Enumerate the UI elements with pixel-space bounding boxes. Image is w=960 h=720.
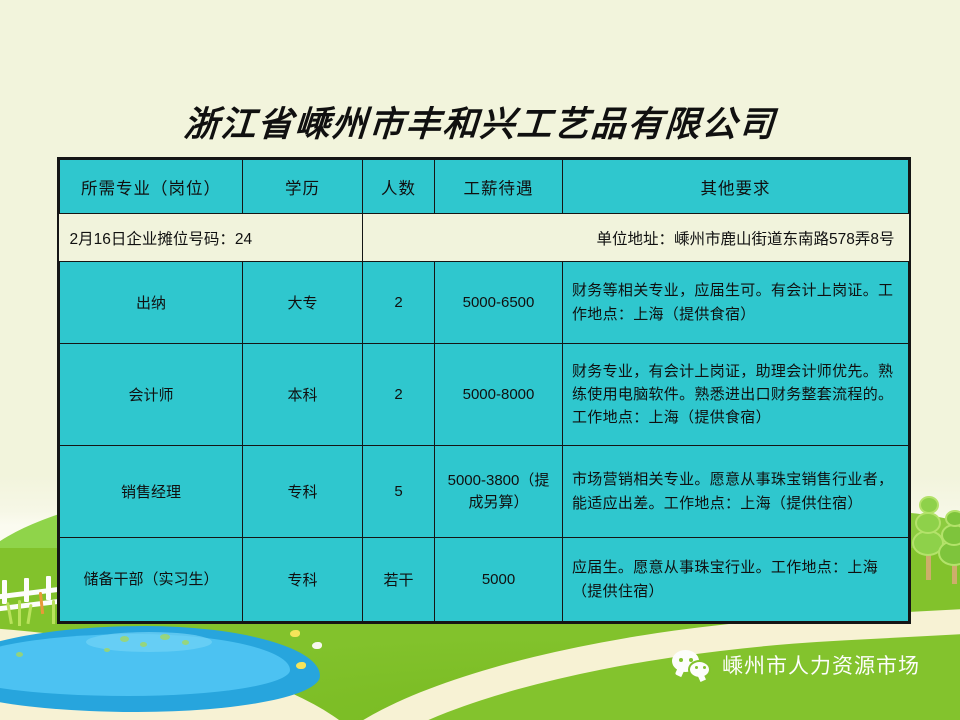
fence-post-1 bbox=[2, 580, 7, 604]
cell-count: 5 bbox=[363, 446, 435, 538]
cell-education: 本科 bbox=[243, 344, 363, 446]
fence-post-3 bbox=[46, 576, 51, 600]
cell-position: 储备干部（实习生） bbox=[60, 538, 243, 622]
cell-position: 出纳 bbox=[60, 262, 243, 344]
cell-requirements: 财务专业，有会计上岗证，助理会计师优先。熟练使用电脑软件。熟悉进出口财务整套流程… bbox=[563, 344, 909, 446]
grass-tuft-5 bbox=[52, 600, 55, 624]
lily-pad-5 bbox=[104, 648, 110, 652]
cell-salary: 5000-6500 bbox=[435, 262, 563, 344]
cell-count: 2 bbox=[363, 262, 435, 344]
cell-position: 销售经理 bbox=[60, 446, 243, 538]
fence-post-2 bbox=[24, 578, 29, 602]
header-position: 所需专业（岗位） bbox=[60, 160, 243, 214]
cell-requirements: 财务等相关专业，应届生可。有会计上岗证。工作地点：上海（提供食宿） bbox=[563, 262, 909, 344]
lily-pad-4 bbox=[182, 640, 189, 645]
lily-pad-1 bbox=[120, 636, 129, 642]
table-row: 销售经理 专科 5 5000-3800（提成另算） 市场营销相关专业。愿意从事珠… bbox=[60, 446, 909, 538]
tree-foliage-1b bbox=[915, 512, 941, 534]
table-row: 储备干部（实习生） 专科 若干 5000 应届生。愿意从事珠宝行业。工作地点：上… bbox=[60, 538, 909, 622]
wechat-dot-3 bbox=[695, 666, 698, 669]
tree-foliage-2c bbox=[945, 510, 960, 527]
wechat-dot-4 bbox=[703, 666, 706, 669]
table-meta-row: 2月16日企业摊位号码：24 单位地址：嵊州市鹿山街道东南路578弄8号 bbox=[60, 214, 909, 262]
cell-education: 大专 bbox=[243, 262, 363, 344]
table-row: 出纳 大专 2 5000-6500 财务等相关专业，应届生可。有会计上岗证。工作… bbox=[60, 262, 909, 344]
cell-salary: 5000-3800（提成另算） bbox=[435, 446, 563, 538]
wechat-icon bbox=[672, 650, 712, 680]
cell-salary: 5000 bbox=[435, 538, 563, 622]
table-header-row: 所需专业（岗位） 学历 人数 工薪待遇 其他要求 bbox=[60, 160, 909, 214]
wechat-bubble-small bbox=[688, 660, 711, 679]
cell-education: 专科 bbox=[243, 538, 363, 622]
bird-white-1 bbox=[312, 642, 322, 649]
header-count: 人数 bbox=[363, 160, 435, 214]
table-body: 出纳 大专 2 5000-6500 财务等相关专业，应届生可。有会计上岗证。工作… bbox=[60, 262, 909, 622]
header-salary: 工薪待遇 bbox=[435, 160, 563, 214]
page-title: 浙江省嵊州市丰和兴工艺品有限公司 bbox=[0, 96, 960, 147]
cell-position: 会计师 bbox=[60, 344, 243, 446]
header-education: 学历 bbox=[243, 160, 363, 214]
cell-count: 2 bbox=[363, 344, 435, 446]
cell-requirements: 市场营销相关专业。愿意从事珠宝销售行业者，能适应出差。工作地点：上海（提供住宿） bbox=[563, 446, 909, 538]
wechat-account-name: 嵊州市人力资源市场 bbox=[722, 650, 920, 680]
bird-yellow-2 bbox=[296, 662, 306, 669]
grass-tuft-2 bbox=[18, 600, 21, 626]
recruitment-grid: 2月16日企业摊位号码：24 单位地址：嵊州市鹿山街道东南路578弄8号 所需专… bbox=[59, 159, 909, 622]
lily-pad-3 bbox=[160, 634, 170, 640]
booth-number-cell: 2月16日企业摊位号码：24 bbox=[60, 214, 363, 262]
job-listing-table: 2月16日企业摊位号码：24 单位地址：嵊州市鹿山街道东南路578弄8号 所需专… bbox=[57, 157, 911, 624]
wechat-dot-1 bbox=[679, 658, 683, 662]
wechat-footer: 嵊州市人力资源市场 bbox=[672, 650, 920, 680]
lily-pad-2 bbox=[140, 642, 147, 647]
poster-canvas: 浙江省嵊州市丰和兴工艺品有限公司 2月16日企业摊位号码：24 单位地址：嵊州市… bbox=[0, 0, 960, 720]
cell-salary: 5000-8000 bbox=[435, 344, 563, 446]
company-address-cell: 单位地址：嵊州市鹿山街道东南路578弄8号 bbox=[363, 214, 909, 262]
tree-foliage-1c bbox=[919, 496, 939, 514]
header-requirements: 其他要求 bbox=[563, 160, 909, 214]
tree-foliage-2b bbox=[941, 524, 960, 546]
cell-count: 若干 bbox=[363, 538, 435, 622]
lily-pad-6 bbox=[16, 652, 23, 657]
table-row: 会计师 本科 2 5000-8000 财务专业，有会计上岗证，助理会计师优先。熟… bbox=[60, 344, 909, 446]
cell-requirements: 应届生。愿意从事珠宝行业。工作地点：上海（提供住宿） bbox=[563, 538, 909, 622]
bird-yellow-1 bbox=[290, 630, 300, 637]
cell-education: 专科 bbox=[243, 446, 363, 538]
